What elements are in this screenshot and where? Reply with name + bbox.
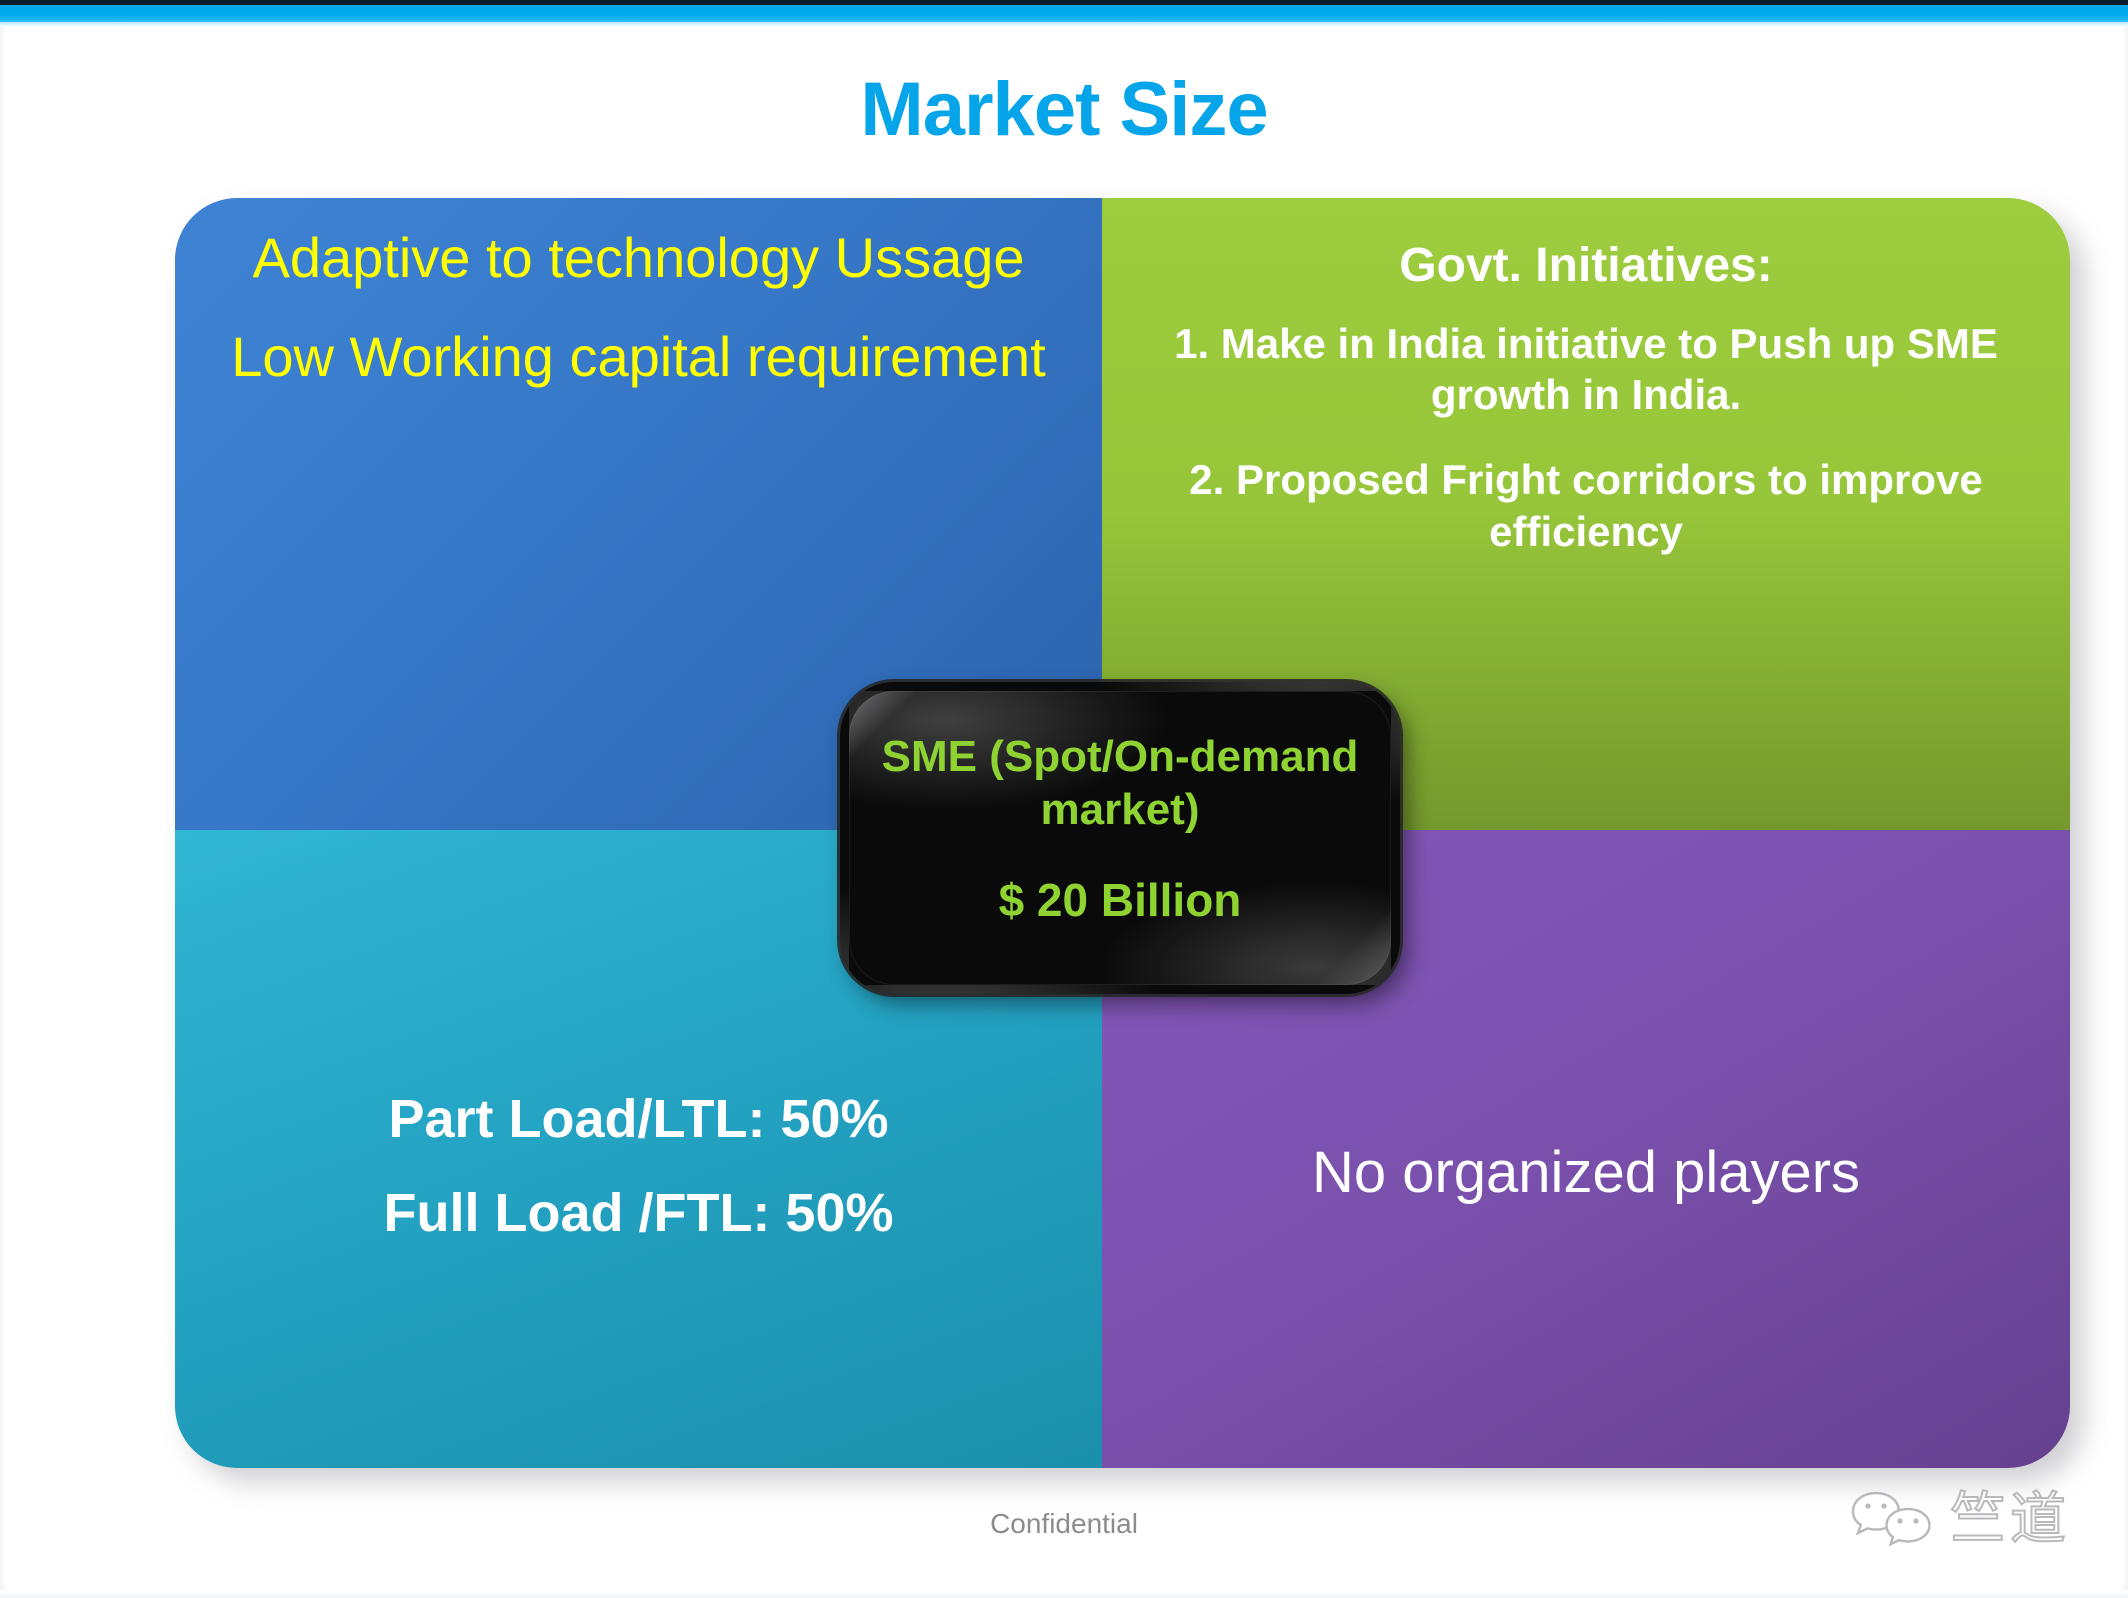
- callout-amount: $ 20 Billion: [849, 873, 1391, 928]
- page-title: Market Size: [0, 72, 2128, 148]
- top-bar-fade: [0, 22, 2128, 27]
- quadrant-tl-text-block: Adaptive to technology Ussage Low Workin…: [175, 226, 1102, 390]
- bottom-page-edge: [0, 1590, 2128, 1598]
- quadrant-tl-line-2: Low Working capital requirement: [227, 325, 1050, 390]
- list-item: 2. Proposed Fright corridors to improve …: [1154, 454, 2018, 556]
- brand-logo: 竺道: [1850, 1478, 2100, 1562]
- window-top-blue-bar: [0, 5, 2128, 22]
- quadrant-tr-list: 1. Make in India initiative to Push up S…: [1102, 318, 2070, 591]
- callout-label: SME (Spot/On-demand market) $ 20 Billion: [849, 731, 1391, 928]
- quadrant-tr-heading: Govt. Initiatives:: [1102, 240, 2070, 293]
- quadrant-bl-text-block: Part Load/LTL: 50% Full Load /FTL: 50%: [175, 1088, 1102, 1276]
- sme-market-callout: SME (Spot/On-demand market) $ 20 Billion: [840, 682, 1400, 994]
- quadrant-bl-line-1: Part Load/LTL: 50%: [215, 1088, 1062, 1150]
- right-page-edge: [2122, 27, 2128, 1598]
- left-page-edge: [0, 27, 6, 1598]
- quadrant-bl-line-2: Full Load /FTL: 50%: [215, 1182, 1062, 1244]
- wechat-bubbles-icon: [1850, 1489, 1940, 1551]
- quadrant-tl-spacer: [227, 291, 1050, 325]
- callout-label-text: SME (Spot/On-demand market): [849, 731, 1391, 837]
- brand-name: 竺道: [1950, 1492, 2070, 1548]
- list-item: 1. Make in India initiative to Push up S…: [1154, 318, 2018, 420]
- quadrant-br-line-1: No organized players: [1102, 1140, 2070, 1207]
- confidentiality-label: Confidential: [0, 1508, 2128, 1540]
- quadrant-tl-line-1: Adaptive to technology Ussage: [227, 226, 1050, 291]
